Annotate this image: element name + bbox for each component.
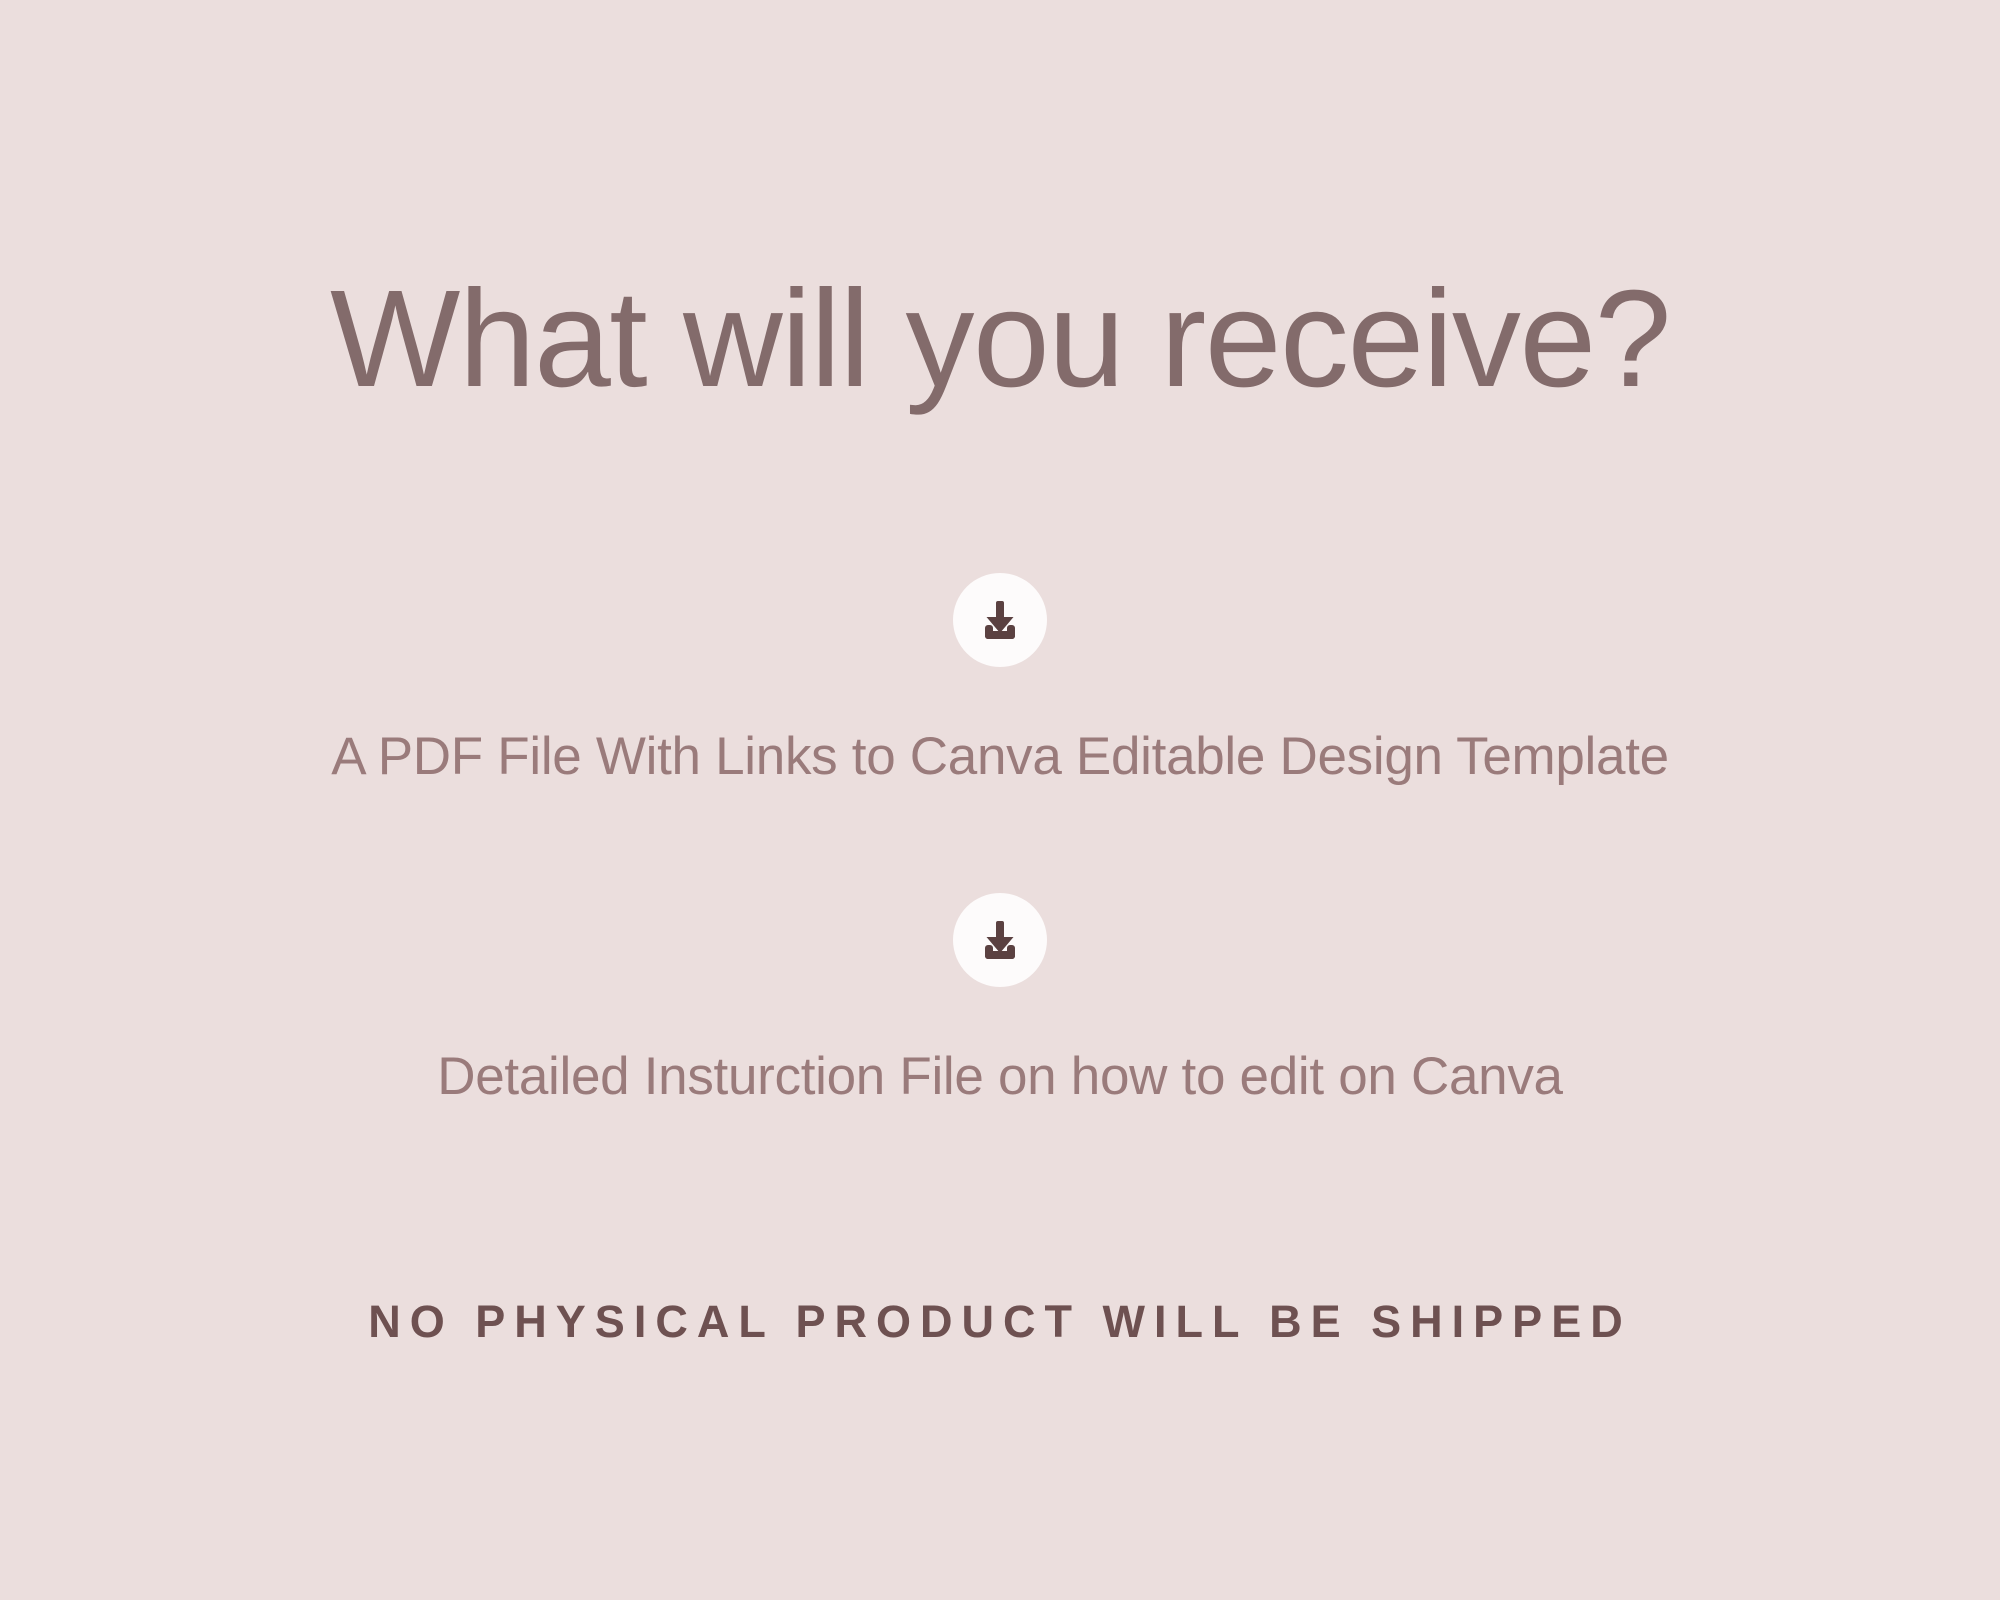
promo-graphic: What will you receive? A PDF File With L…	[0, 0, 2000, 1600]
feature-item-pdf: A PDF File With Links to Canva Editable …	[0, 573, 2000, 785]
download-icon	[953, 893, 1047, 987]
feature-item-instructions: Detailed Insturction File on how to edit…	[0, 893, 2000, 1105]
shipping-disclaimer: NO PHYSICAL PRODUCT WILL BE SHIPPED	[0, 1296, 2000, 1348]
download-icon	[953, 573, 1047, 667]
page-title: What will you receive?	[0, 270, 2000, 408]
feature-label: Detailed Insturction File on how to edit…	[437, 1049, 1562, 1105]
feature-label: A PDF File With Links to Canva Editable …	[331, 729, 1669, 785]
